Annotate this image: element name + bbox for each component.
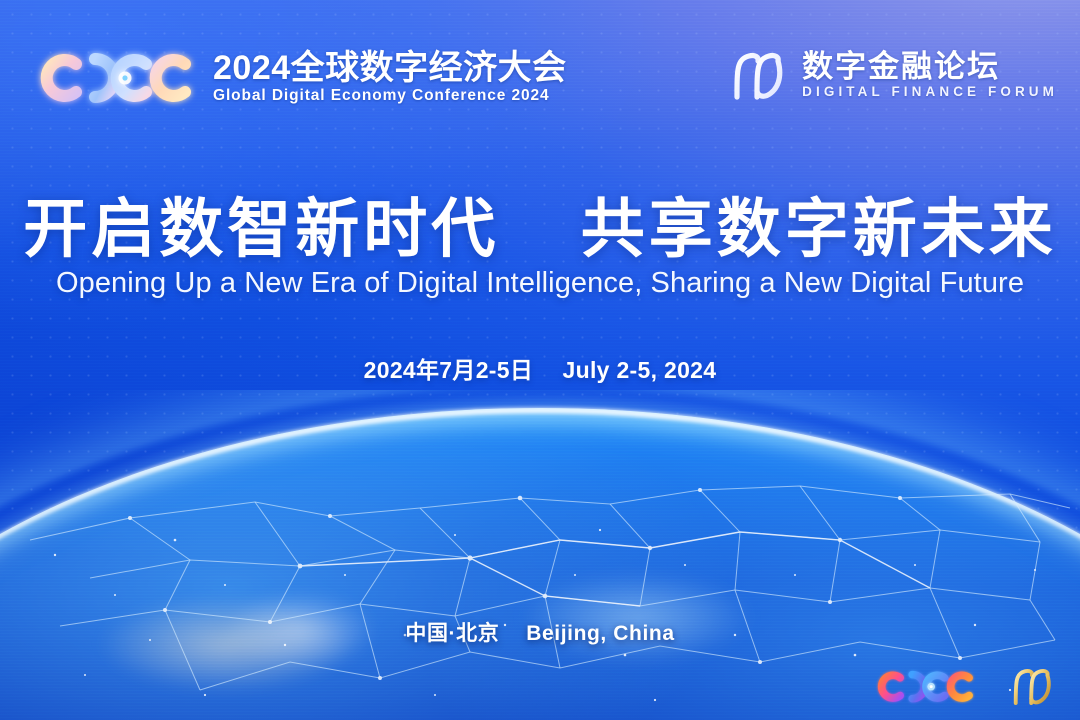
gdec-title-cn: 2024全球数字经济大会	[213, 51, 567, 85]
event-date-cn: 2024年7月2-5日	[364, 357, 534, 383]
event-dates: 2024年7月2-5日 July 2-5, 2024	[0, 351, 1080, 385]
gdec-logo-lockup: 2024全球数字经济大会 Global Digital Economy Conf…	[33, 46, 567, 108]
conference-backdrop: 2024全球数字经济大会 Global Digital Economy Conf…	[0, 0, 1080, 720]
page-subtitle: Opening Up a New Era of Digital Intellig…	[0, 267, 1080, 300]
footer-logo-group	[873, 664, 1056, 708]
ff-monogram-icon	[727, 47, 789, 103]
gdec-logo-small-icon	[873, 666, 978, 706]
dff-title-en: DIGITAL FINANCE FORUM	[802, 85, 1058, 99]
event-location: 中国·北京 Beijing, China	[0, 617, 1080, 647]
event-date-en: July 2-5, 2024	[563, 357, 717, 383]
gdec-logo-icon	[33, 46, 199, 108]
event-location-cn: 中国·北京	[405, 622, 499, 645]
headline-first-half: 开启数智新时代	[23, 193, 499, 265]
digital-finance-forum-text: 数字金融论坛 DIGITAL FINANCE FORUM	[802, 51, 1058, 99]
ff-monogram-small-icon	[1008, 664, 1056, 708]
page-title: 开启数智新时代 共享数字新未来	[0, 196, 1080, 263]
headline-second-half: 共享数字新未来	[581, 193, 1057, 265]
gdec-logo-text: 2024全球数字经济大会 Global Digital Economy Conf…	[213, 49, 567, 104]
digital-finance-forum-lockup: 数字金融论坛 DIGITAL FINANCE FORUM	[727, 47, 1058, 103]
dff-title-cn: 数字金融论坛	[802, 51, 1058, 82]
gdec-title-en: Global Digital Economy Conference 2024	[213, 87, 567, 104]
event-location-en: Beijing, China	[526, 622, 674, 645]
